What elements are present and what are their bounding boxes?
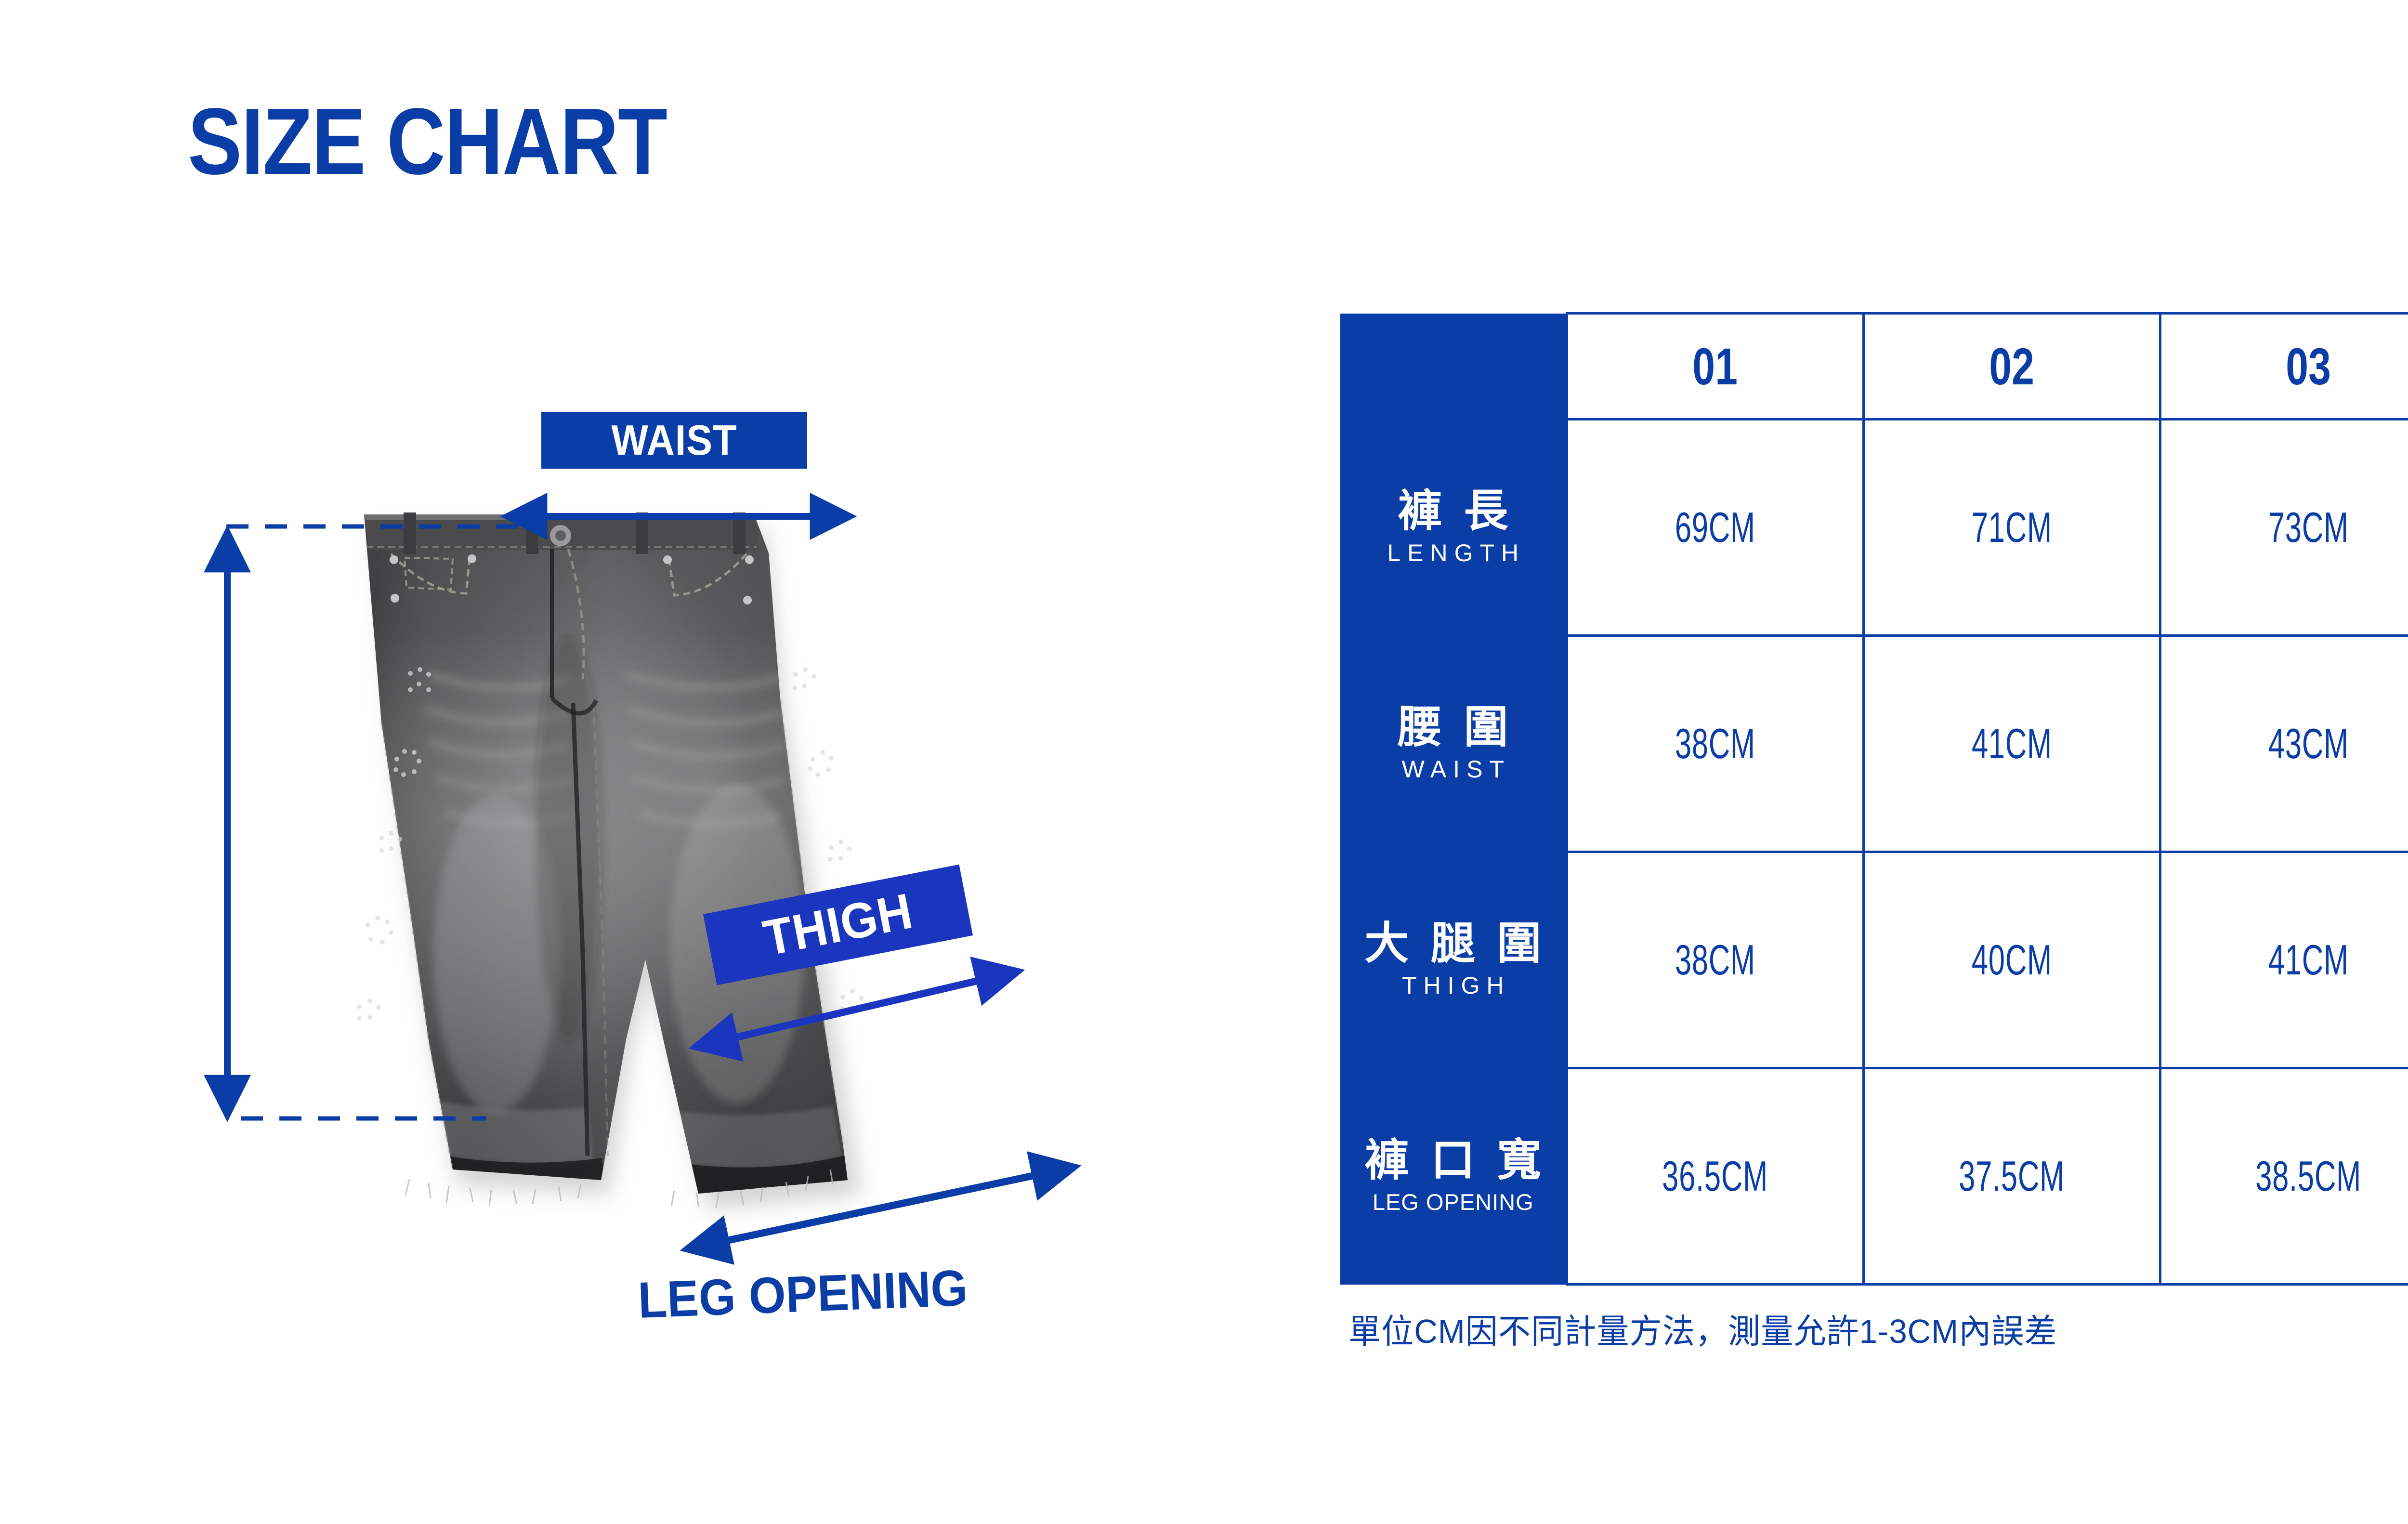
table-row: 褲 口 寬 LEG OPENING 36.5CM 37.5CM 38.5CM <box>1340 1068 2408 1285</box>
cell-thigh-02-text: 40CM <box>1971 935 2052 985</box>
cell-waist-02-text: 41CM <box>1971 719 2052 768</box>
cell-waist-01-text: 38CM <box>1675 719 1755 768</box>
row-label-leg-opening-en: LEG OPENING <box>1372 1189 1534 1215</box>
cell-waist-03-text: 43CM <box>2268 719 2348 768</box>
row-label-waist-zh: 腰 圍 <box>1393 704 1513 751</box>
cell-waist-01: 38CM <box>1567 636 1863 852</box>
cell-leg-opening-01-text: 36.5CM <box>1662 1152 1768 1201</box>
cell-length-03: 73CM <box>2160 420 2408 636</box>
header-size-01-text: 01 <box>1692 336 1738 396</box>
table-row: 大 腿 圍 THIGH 38CM 40CM 41CM <box>1340 852 2408 1068</box>
product-photo <box>202 472 1117 1320</box>
cell-thigh-03: 41CM <box>2160 852 2408 1068</box>
table-header-row: 01 02 03 <box>1340 314 2408 420</box>
cell-thigh-01-text: 38CM <box>1675 935 1755 985</box>
size-table: 01 02 03 褲 長 LENGTH 69CM 71CM 73CM <box>1340 312 2408 1286</box>
header-size-03: 03 <box>2160 314 2408 420</box>
row-label-thigh: 大 腿 圍 THIGH <box>1340 852 1567 1068</box>
row-label-length: 褲 長 LENGTH <box>1340 420 1567 636</box>
denim-shorts-illustration <box>202 472 1117 1320</box>
cell-waist-02: 41CM <box>1863 636 2160 852</box>
cell-thigh-02: 40CM <box>1863 852 2160 1068</box>
cell-leg-opening-02: 37.5CM <box>1863 1068 2160 1285</box>
row-label-length-zh: 褲 長 <box>1393 488 1513 535</box>
table-row: 腰 圍 WAIST 38CM 41CM 43CM <box>1340 636 2408 852</box>
shorts-body <box>347 501 877 1214</box>
row-label-leg-opening: 褲 口 寬 LEG OPENING <box>1340 1068 1567 1285</box>
waist-badge: WAIST <box>541 412 807 469</box>
cell-length-02-text: 71CM <box>1971 503 2052 552</box>
header-size-02-text: 02 <box>1989 336 2034 396</box>
header-label-spacer <box>1340 314 1567 420</box>
cell-leg-opening-03: 38.5CM <box>2160 1068 2408 1285</box>
size-chart-page: SIZE CHART <box>0 0 2408 1524</box>
size-table-container: 01 02 03 褲 長 LENGTH 69CM 71CM 73CM <box>1340 312 2408 1284</box>
cell-thigh-03-text: 41CM <box>2268 935 2348 985</box>
cell-length-01-text: 69CM <box>1675 503 1755 552</box>
cell-waist-03: 43CM <box>2160 636 2408 852</box>
row-label-waist: 腰 圍 WAIST <box>1340 636 1567 852</box>
measurement-note: 單位CM因不同計量方法，測量允許1-3CM內誤差 <box>1348 1304 2057 1353</box>
row-label-length-en: LENGTH <box>1380 539 1525 567</box>
cell-thigh-01: 38CM <box>1567 852 1863 1068</box>
row-label-thigh-en: THIGH <box>1395 972 1511 999</box>
header-size-03-text: 03 <box>2286 336 2331 396</box>
row-label-thigh-zh: 大 腿 圍 <box>1360 920 1546 967</box>
cell-leg-opening-02-text: 37.5CM <box>1959 1152 2065 1201</box>
header-size-02: 02 <box>1863 314 2160 420</box>
table-row: 褲 長 LENGTH 69CM 71CM 73CM <box>1340 420 2408 636</box>
cell-length-02: 71CM <box>1863 420 2160 636</box>
row-label-waist-en: WAIST <box>1395 755 1511 783</box>
cell-leg-opening-03-text: 38.5CM <box>2255 1152 2361 1201</box>
cell-length-01: 69CM <box>1567 420 1863 636</box>
header-size-01: 01 <box>1567 314 1863 420</box>
page-title: SIZE CHART <box>188 94 667 189</box>
row-label-leg-opening-zh: 褲 口 寬 <box>1360 1137 1546 1184</box>
cell-leg-opening-01: 36.5CM <box>1567 1068 1863 1285</box>
cell-length-03-text: 73CM <box>2268 503 2348 552</box>
